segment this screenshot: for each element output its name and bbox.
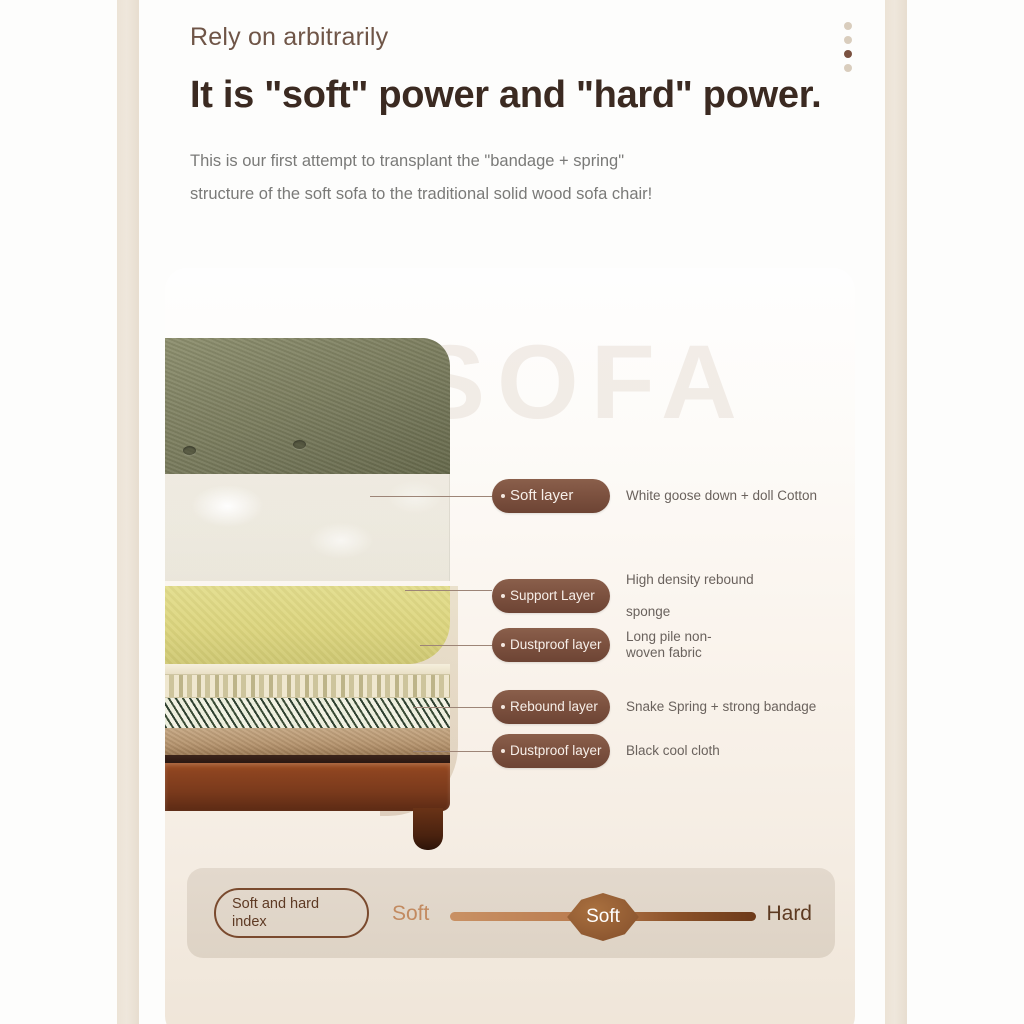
callout-label: Dustproof layer	[510, 637, 602, 653]
indicator-dot-2[interactable]	[844, 36, 852, 44]
subtitle-line-2: structure of the soft sofa to the tradit…	[190, 178, 850, 211]
callout-pill-dustproof-upper[interactable]: Dustproof layer	[492, 628, 610, 662]
headline-block: Rely on arbitrarily It is "soft" power a…	[190, 22, 850, 211]
callout-dustproof-layer-upper: Dustproof layer Long pile non- woven fab…	[492, 628, 712, 662]
callout-pill-support-layer[interactable]: Support Layer	[492, 579, 610, 613]
sofa-watermark: SOFA	[415, 323, 749, 443]
callout-description: Snake Spring + strong bandage	[626, 699, 816, 715]
scale-label-soft: Soft	[392, 902, 429, 926]
layer-cool-cloth	[165, 728, 450, 755]
callout-support-layer: Support Layer High density rebound spong…	[492, 572, 754, 620]
callout-description: Long pile non- woven fabric	[626, 629, 712, 661]
callout-pill-dustproof-lower[interactable]: Dustproof layer	[492, 734, 610, 768]
sofa-cross-section-illustration	[165, 338, 450, 803]
callout-description: Black cool cloth	[626, 743, 720, 759]
connector-line-2	[405, 590, 492, 591]
sofa-wood-leg	[413, 808, 443, 850]
callout-description: White goose down + doll Cotton	[626, 488, 817, 504]
callout-rebound-layer: Rebound layer Snake Spring + strong band…	[492, 690, 816, 724]
tuft-button-1	[183, 446, 196, 455]
callout-description: High density rebound sponge	[626, 572, 754, 620]
page-indicator-dots[interactable]	[844, 22, 852, 72]
callout-label: Dustproof layer	[510, 743, 602, 759]
bullet-dot-icon	[501, 594, 505, 598]
eyebrow-text: Rely on arbitrarily	[190, 22, 850, 53]
scale-track[interactable]: Soft	[450, 912, 756, 921]
product-detail-card: SOFA Soft layer	[165, 268, 855, 1024]
layer-bandage-mesh	[165, 698, 450, 728]
callout-soft-layer: Soft layer White goose down + doll Cotto…	[492, 479, 817, 513]
left-edge-strip	[117, 0, 139, 1024]
bullet-dot-icon	[501, 749, 505, 753]
subtitle-text: This is our first attempt to transplant …	[190, 145, 850, 211]
soft-hard-scale: Soft Hard Soft	[392, 894, 812, 934]
scale-label-hard: Hard	[766, 902, 812, 926]
page-title: It is "soft" power and "hard" power.	[190, 73, 850, 119]
indicator-dot-1[interactable]	[844, 22, 852, 30]
callout-pill-rebound-layer[interactable]: Rebound layer	[492, 690, 610, 724]
page-root: Rely on arbitrarily It is "soft" power a…	[0, 0, 1024, 1024]
subtitle-line-1: This is our first attempt to transplant …	[190, 145, 850, 178]
right-edge-strip	[885, 0, 907, 1024]
connector-line-4	[413, 707, 492, 708]
soft-hard-index-panel: Soft and hard index Soft Hard Soft	[187, 868, 835, 958]
soft-hard-index-chip[interactable]: Soft and hard index	[214, 888, 369, 938]
bullet-dot-icon	[501, 705, 505, 709]
connector-line-5	[413, 751, 492, 752]
callout-label: Support Layer	[510, 588, 595, 604]
bullet-dot-icon	[501, 643, 505, 647]
layer-snake-spring	[165, 674, 450, 698]
callout-label: Rebound layer	[510, 699, 598, 715]
indicator-dot-3[interactable]	[844, 50, 852, 58]
callout-dustproof-layer-lower: Dustproof layer Black cool cloth	[492, 734, 720, 768]
layer-goose-down	[165, 474, 450, 581]
callout-pill-soft-layer[interactable]: Soft layer	[492, 479, 610, 513]
callout-label: Soft layer	[510, 488, 573, 505]
indicator-dot-4[interactable]	[844, 64, 852, 72]
layer-nonwoven-fabric	[165, 664, 450, 674]
connector-line-1	[370, 496, 492, 497]
tuft-button-2	[293, 440, 306, 449]
connector-line-3	[420, 645, 492, 646]
layer-dark-trim	[165, 755, 450, 763]
layer-sponge	[165, 586, 450, 664]
bullet-dot-icon	[501, 494, 505, 498]
layer-solid-wood-frame	[165, 763, 450, 811]
layer-upholstered-back	[165, 338, 450, 474]
scale-knob[interactable]: Soft	[564, 893, 642, 941]
